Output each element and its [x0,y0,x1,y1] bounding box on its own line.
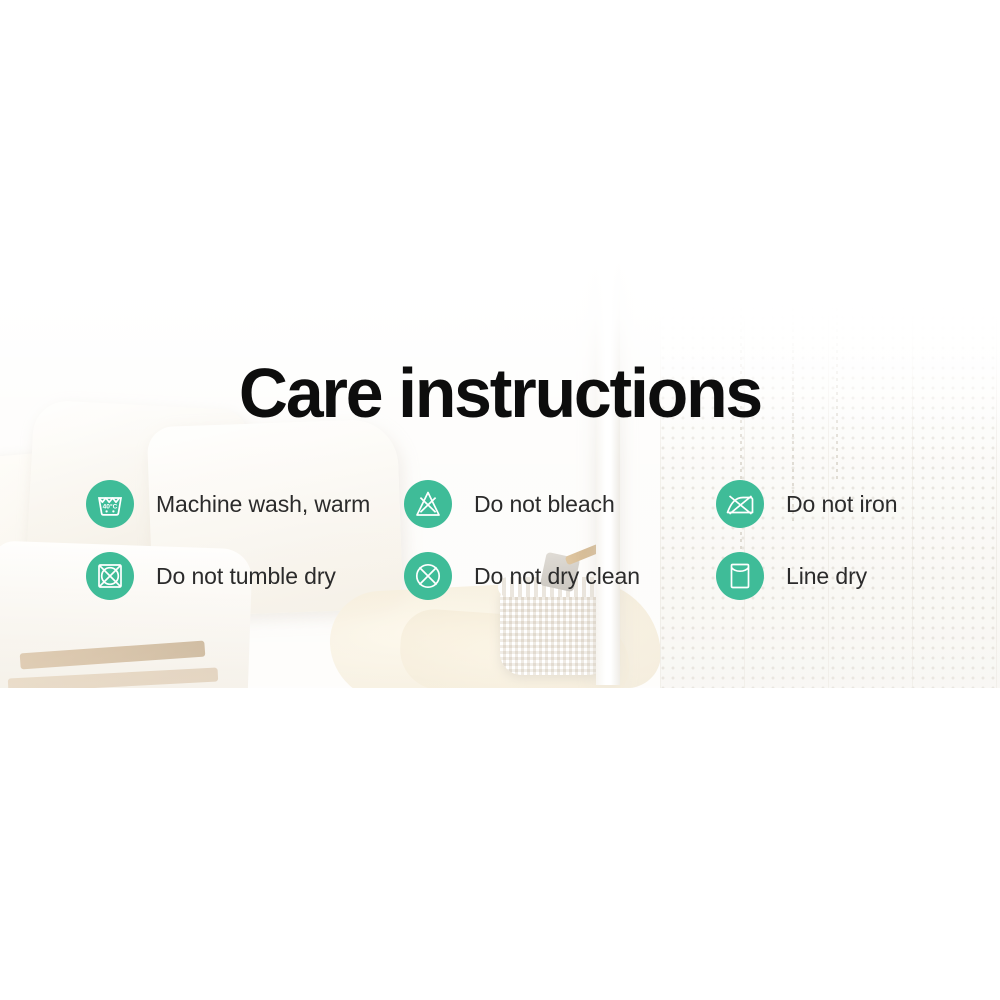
care-item-label: Do not bleach [474,491,615,518]
care-item-do-not-bleach: Do not bleach [404,480,716,528]
care-item-label: Line dry [786,563,867,590]
svg-text:40°C: 40°C [103,502,118,510]
care-item-label: Do not tumble dry [156,563,336,590]
do-not-dry-clean-icon [404,552,452,600]
care-instructions-grid: 40°C Machine wash, warm Do not bleach [86,480,966,624]
care-row-1: 40°C Machine wash, warm Do not bleach [86,480,966,528]
care-item-do-not-tumble-dry: Do not tumble dry [86,552,404,600]
do-not-bleach-icon [404,480,452,528]
care-item-label: Do not iron [786,491,897,518]
page-title: Care instructions [15,358,985,428]
care-item-label: Do not dry clean [474,563,640,590]
care-row-2: Do not tumble dry Do not dry clean [86,552,966,600]
machine-wash-warm-icon: 40°C [86,480,134,528]
care-item-line-dry: Line dry [716,552,867,600]
care-instructions-banner: Care instructions 40°C Machine wash, war… [0,0,1000,1000]
do-not-tumble-dry-icon [86,552,134,600]
care-item-do-not-dry-clean: Do not dry clean [404,552,716,600]
care-item-do-not-iron: Do not iron [716,480,897,528]
care-item-label: Machine wash, warm [156,491,370,518]
line-dry-icon [716,552,764,600]
do-not-iron-icon [716,480,764,528]
care-item-machine-wash-warm: 40°C Machine wash, warm [86,480,404,528]
